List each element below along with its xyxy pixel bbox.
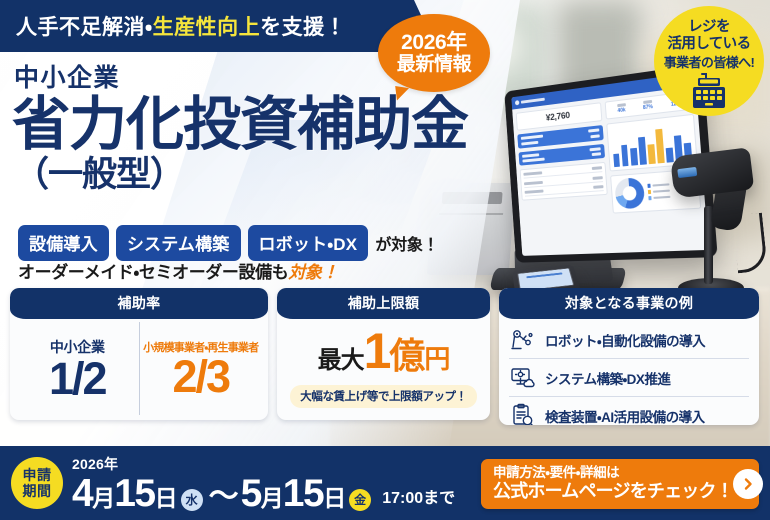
cap-prefix: 最大 bbox=[318, 340, 364, 375]
cap-currency: 円 bbox=[424, 339, 449, 376]
new-info-bubble: 2026年 最新情報 bbox=[378, 14, 490, 92]
target-pill-tail: が対象！ bbox=[375, 231, 438, 255]
bar bbox=[621, 144, 629, 166]
top-ribbon: 人手不足解消・生産性向上を支援！ bbox=[0, 0, 414, 52]
donut-chart bbox=[614, 177, 645, 209]
cta-line-2: 公式ホームページをチェック！ bbox=[493, 481, 733, 503]
summary-value bbox=[588, 128, 599, 132]
rate-value-sme: 1/2 bbox=[49, 356, 106, 401]
ribbon-text-before: 人手不足解消・ bbox=[16, 11, 153, 41]
target-pill-system: システム構築 bbox=[116, 225, 241, 261]
headline-subtitle: （一般型） bbox=[14, 156, 468, 195]
list-value bbox=[592, 166, 602, 170]
summary-label bbox=[522, 158, 544, 163]
ribbon-text-highlight: 生産性向上 bbox=[153, 11, 261, 41]
dashboard-left-column: ¥2,760 bbox=[516, 102, 612, 252]
brand-dot-icon bbox=[515, 100, 519, 105]
kpi-label bbox=[617, 103, 626, 107]
footer-bar: 申請 期間 2026年 4月15日水〜5月15日金17:00まで 申請方法・要件… bbox=[0, 446, 770, 520]
example-label-2: システム構築・DX推進 bbox=[545, 368, 670, 388]
kpi-item: 87% bbox=[642, 100, 653, 111]
end-day-unit: 日 bbox=[323, 479, 345, 513]
bar bbox=[648, 144, 656, 164]
bar bbox=[630, 148, 638, 166]
ribbon-text-after: を支援！ bbox=[260, 11, 346, 41]
start-weekday: 水 bbox=[181, 489, 203, 511]
scanner-window bbox=[677, 167, 697, 178]
target-pill-equipment: 設備導入 bbox=[18, 225, 109, 261]
end-day: 15 bbox=[283, 474, 323, 513]
list-item bbox=[525, 185, 604, 197]
subsidy-cap-note: 大幅な賃上げ等で上限額アップ！ bbox=[290, 385, 477, 408]
legend-label bbox=[653, 183, 670, 187]
subsidy-cap-amount: 最大1億円 bbox=[318, 326, 450, 379]
example-projects-card: 対象となる事業の例 bbox=[499, 288, 759, 425]
promo-banner: ¥2,760 bbox=[0, 0, 770, 520]
audience-line-2: 活用している bbox=[668, 36, 751, 53]
bar bbox=[655, 128, 664, 163]
terminal-screen-line bbox=[526, 272, 562, 278]
list-item: システム構築・DX推進 bbox=[509, 358, 749, 396]
kpi-label bbox=[643, 100, 652, 104]
list-label bbox=[524, 180, 543, 184]
legend-item bbox=[648, 189, 671, 194]
donut-legend bbox=[647, 183, 671, 201]
list-rows bbox=[523, 166, 603, 196]
system-cloud-icon bbox=[509, 364, 536, 391]
rate-value-small: 2/3 bbox=[172, 354, 229, 399]
subsidy-cap-body: 最大1億円 大幅な賃上げ等で上限額アップ！ bbox=[277, 319, 490, 420]
end-month: 5 bbox=[241, 474, 261, 513]
list-card bbox=[520, 162, 608, 201]
list-value bbox=[592, 176, 602, 180]
robot-arm-icon bbox=[509, 326, 536, 353]
example-label-3: 検査装置・AI活用設備の導入 bbox=[545, 406, 705, 426]
audience-line-1: レジを bbox=[688, 19, 730, 36]
legend-swatch bbox=[648, 190, 652, 194]
subsidy-cap-header: 補助上限額 bbox=[277, 288, 490, 319]
audience-line-3: 事業者の皆様へ! bbox=[664, 55, 755, 71]
summary-label bbox=[522, 153, 539, 158]
kpi-item: 40k bbox=[617, 103, 626, 114]
legend-swatch bbox=[647, 184, 651, 188]
example-projects-header: 対象となる事業の例 bbox=[499, 288, 759, 319]
bubble-year: 2026年 bbox=[401, 31, 467, 55]
start-month-unit: 月 bbox=[92, 479, 114, 513]
summary-label bbox=[521, 140, 538, 145]
legend-label bbox=[654, 196, 671, 200]
start-day-unit: 日 bbox=[155, 479, 177, 513]
subsidy-rate-card: 補助率 中小企業 1/2 小規模事業者・再生事業者 2/3 bbox=[10, 288, 268, 420]
legend-swatch bbox=[648, 196, 652, 200]
order-made-note-text: オーダーメイド・セミオーダー設備も bbox=[18, 263, 288, 282]
application-period: 2026年 4月15日水〜5月15日金17:00まで bbox=[72, 454, 455, 515]
end-weekday: 金 bbox=[349, 489, 371, 511]
bar bbox=[666, 147, 674, 163]
list-item: ロボット・自動化設備の導入 bbox=[509, 321, 749, 358]
legend-item bbox=[647, 183, 670, 188]
page-title: 省力化投資補助金 bbox=[12, 95, 468, 154]
list-label bbox=[525, 190, 544, 194]
info-card-group: 補助率 中小企業 1/2 小規模事業者・再生事業者 2/3 補助上限額 最大1億… bbox=[10, 288, 759, 425]
cap-unit: 億 bbox=[389, 327, 424, 379]
bubble-subtitle: 最新情報 bbox=[397, 54, 471, 75]
amount-value: ¥2,760 bbox=[519, 107, 598, 127]
subsidy-rate-header: 補助率 bbox=[10, 288, 268, 319]
cap-number: 1 bbox=[364, 326, 390, 376]
badge-line-2: 期間 bbox=[23, 483, 52, 499]
list-label bbox=[523, 171, 542, 175]
brand-wordmark bbox=[521, 98, 545, 104]
cta-line-1: 申請方法・要件・詳細は bbox=[493, 465, 733, 481]
chevron-right-icon[interactable] bbox=[733, 469, 763, 499]
end-month-unit: 月 bbox=[261, 479, 283, 513]
kpi-value: 87% bbox=[643, 104, 653, 111]
inspection-clipboard-icon bbox=[509, 402, 536, 425]
cash-register-icon bbox=[687, 73, 731, 118]
target-pill-group: 設備導入 システム構築 ロボット・DX が対象！ bbox=[18, 225, 439, 261]
period-range: 4月15日水〜5月15日金17:00まで bbox=[72, 471, 455, 515]
order-made-note-highlight: 対象！ bbox=[288, 263, 338, 282]
summary-label bbox=[521, 135, 543, 140]
kpi-value: 40k bbox=[617, 107, 625, 114]
rate-column-small: 小規模事業者・再生事業者 2/3 bbox=[139, 322, 263, 415]
badge-line-1: 申請 bbox=[23, 467, 52, 483]
list-value bbox=[593, 185, 603, 189]
dashboard-brand bbox=[515, 97, 545, 106]
cta-text: 申請方法・要件・詳細は 公式ホームページをチェック！ bbox=[493, 465, 733, 503]
bar bbox=[613, 154, 620, 168]
audience-circle: レジを 活用している 事業者の皆様へ! bbox=[654, 6, 764, 116]
legend-label bbox=[653, 189, 670, 193]
order-made-note: オーダーメイド・セミオーダー設備も対象！ bbox=[18, 258, 338, 283]
legend-item bbox=[648, 195, 671, 200]
subsidy-rate-body: 中小企業 1/2 小規模事業者・再生事業者 2/3 bbox=[10, 319, 268, 420]
example-projects-body: ロボット・自動化設備の導入 システム構築・DX推進 bbox=[499, 319, 759, 425]
summary-value bbox=[589, 147, 600, 151]
application-period-badge: 申請 期間 bbox=[11, 457, 63, 509]
rate-column-sme: 中小企業 1/2 bbox=[16, 322, 139, 415]
official-site-cta-button[interactable]: 申請方法・要件・詳細は 公式ホームページをチェック！ bbox=[481, 459, 759, 509]
summary-value bbox=[591, 152, 600, 156]
start-month: 4 bbox=[72, 474, 92, 513]
subsidy-cap-card: 補助上限額 最大1億円 大幅な賃上げ等で上限額アップ！ bbox=[277, 288, 490, 420]
start-day: 15 bbox=[114, 474, 154, 513]
summary-value bbox=[590, 134, 599, 138]
bar bbox=[638, 137, 646, 165]
ribbon-text: 人手不足解消・生産性向上を支援！ bbox=[16, 0, 346, 52]
deadline-time: 17:00まで bbox=[382, 484, 455, 508]
list-item: 検査装置・AI活用設備の導入 bbox=[509, 396, 749, 425]
example-label-1: ロボット・自動化設備の導入 bbox=[545, 330, 705, 350]
target-pill-robot-dx: ロボット・DX bbox=[248, 225, 369, 261]
range-separator: 〜 bbox=[209, 471, 239, 515]
